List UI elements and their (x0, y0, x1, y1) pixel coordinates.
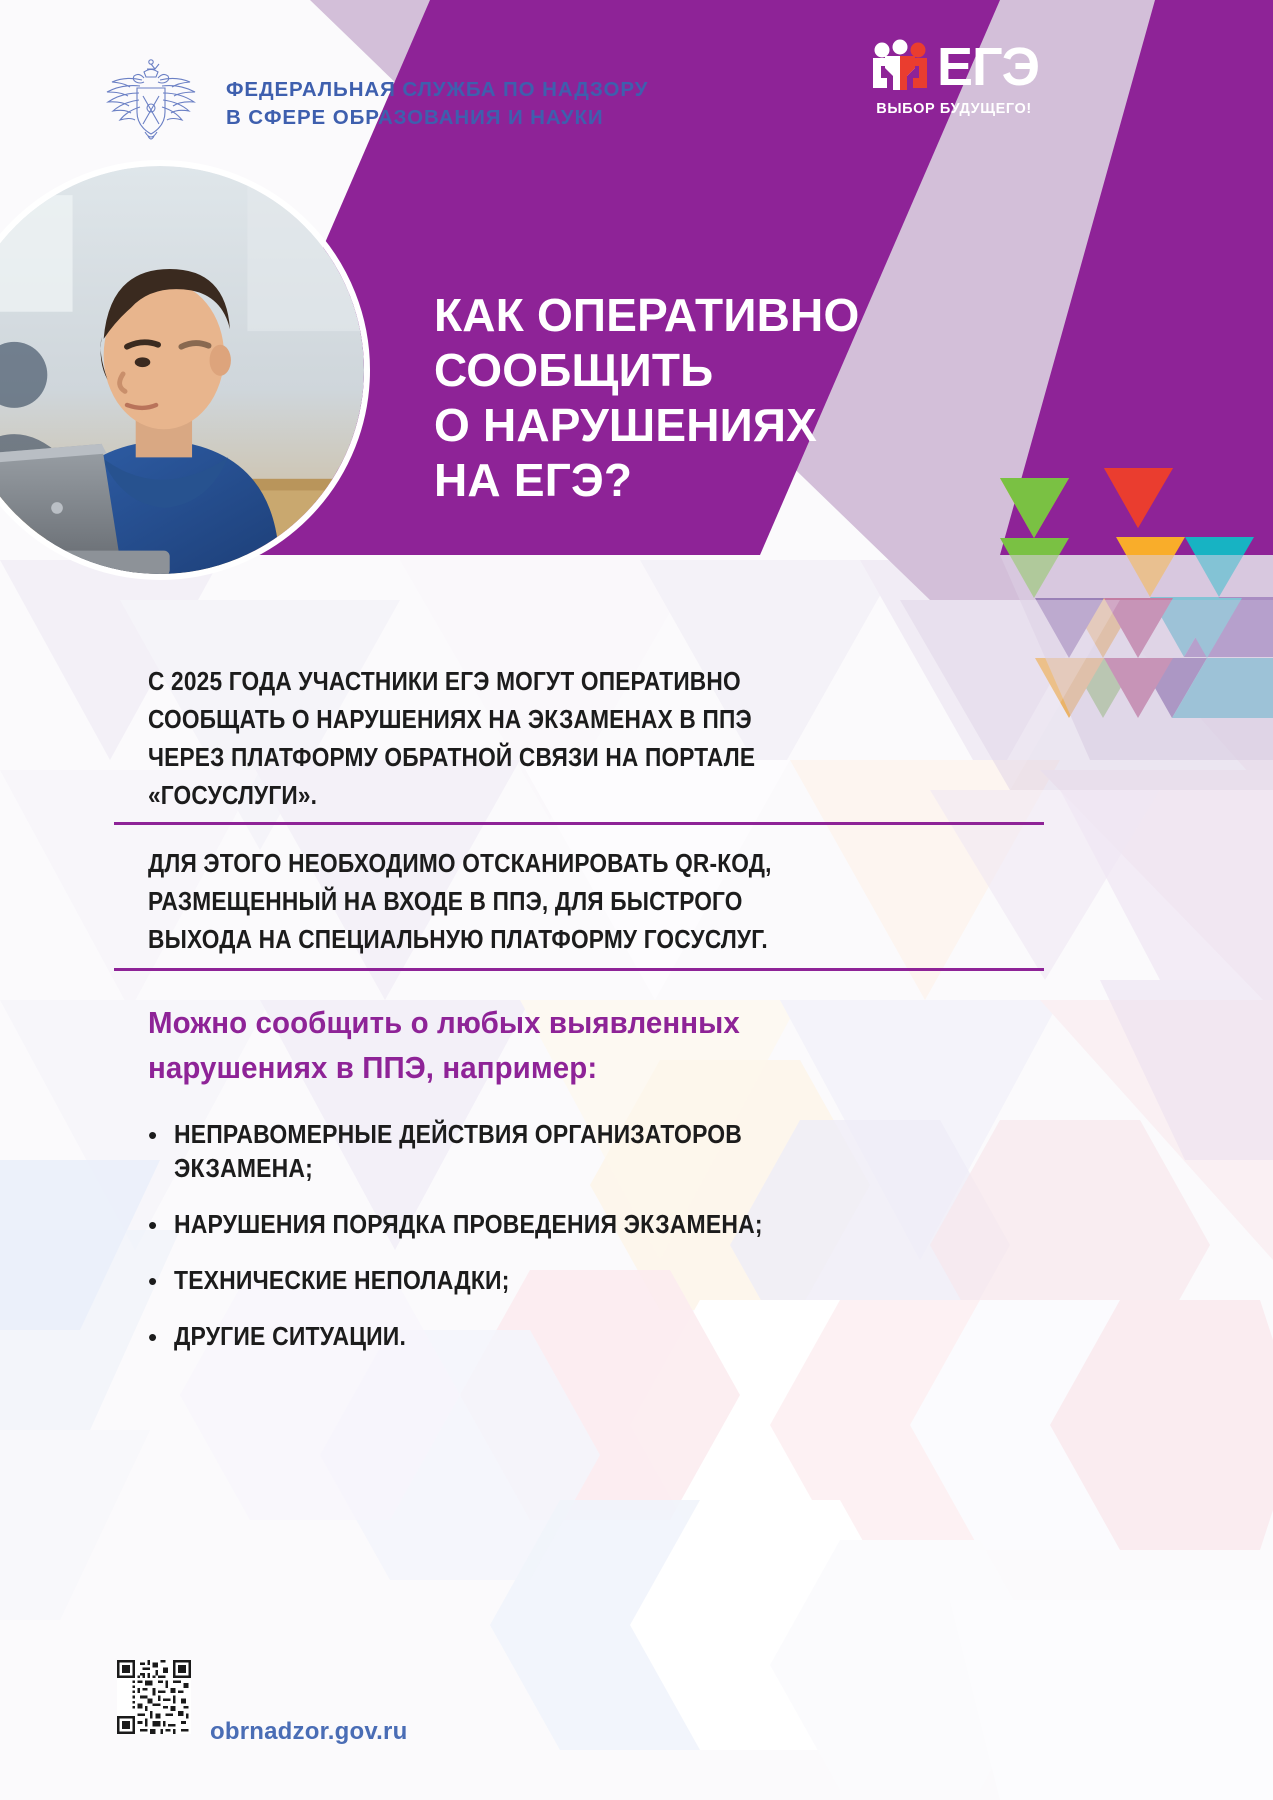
federal-service-line1: ФЕДЕРАЛЬНАЯ СЛУЖБА ПО НАДЗОРУ (226, 76, 648, 104)
qr-code-icon[interactable] (117, 1660, 191, 1734)
list-item-text-line1: НЕПРАВОМЕРНЫЕ ДЕЙСТВИЯ ОРГАНИЗАТОРОВ (174, 1118, 742, 1152)
list-item-text-line1: ДРУГИЕ СИТУАЦИИ. (174, 1320, 406, 1354)
ege-tagline: ВЫБОР БУДУЩЕГО! (869, 101, 1039, 117)
subheading-line1: Можно сообщить о любых выявленных (148, 1000, 740, 1045)
list-item: • НЕПРАВОМЕРНЫЕ ДЕЙСТВИЯ ОРГАНИЗАТОРОВ Э… (148, 1118, 1048, 1186)
page-title-line1: КАК ОПЕРАТИВНО (434, 288, 859, 343)
page-title-line2: СООБЩИТЬ (434, 343, 859, 398)
list-item-text-line1: НАРУШЕНИЯ ПОРЯДКА ПРОВЕДЕНИЯ ЭКЗАМЕНА; (174, 1208, 763, 1242)
website-link[interactable]: obrnadzor.gov.ru (210, 1718, 407, 1746)
paragraph-1-line1: С 2025 ГОДА УЧАСТНИКИ ЕГЭ МОГУТ ОПЕРАТИВ… (148, 663, 755, 701)
divider-2 (114, 968, 1044, 971)
paragraph-1-line3: ЧЕРЕЗ ПЛАТФОРМУ ОБРАТНОЙ СВЯЗИ НА ПОРТАЛ… (148, 739, 755, 777)
paragraph-2: ДЛЯ ЭТОГО НЕОБХОДИМО ОТСКАНИРОВАТЬ QR-КО… (148, 845, 772, 959)
list-item-text: НАРУШЕНИЯ ПОРЯДКА ПРОВЕДЕНИЯ ЭКЗАМЕНА; (174, 1208, 763, 1242)
paragraph-2-line2: РАЗМЕЩЕННЫЙ НА ВХОДЕ В ППЭ, ДЛЯ БЫСТРОГО (148, 883, 772, 921)
list-item-text-line2: ЭКЗАМЕНА; (174, 1152, 742, 1186)
list-item-text: ТЕХНИЧЕСКИЕ НЕПОЛАДКИ; (174, 1264, 510, 1298)
list-item: • ДРУГИЕ СИТУАЦИИ. (148, 1320, 1048, 1354)
violations-list: • НЕПРАВОМЕРНЫЕ ДЕЙСТВИЯ ОРГАНИЗАТОРОВ Э… (148, 1118, 1048, 1376)
student-photo (0, 160, 370, 580)
list-item: • НАРУШЕНИЯ ПОРЯДКА ПРОВЕДЕНИЯ ЭКЗАМЕНА; (148, 1208, 1048, 1242)
subheading: Можно сообщить о любых выявленных наруше… (148, 1000, 740, 1090)
paragraph-1-line2: СООБЩАТЬ О НАРУШЕНИЯХ НА ЭКЗАМЕНАХ В ППЭ (148, 701, 755, 739)
list-item-text: ДРУГИЕ СИТУАЦИИ. (174, 1320, 406, 1354)
poster-footer: obrnadzor.gov.ru (0, 1640, 1273, 1800)
poster-root: ФЕДЕРАЛЬНАЯ СЛУЖБА ПО НАДЗОРУ В СФЕРЕ ОБ… (0, 0, 1273, 1800)
page-title-line3: О НАРУШЕНИЯХ (434, 398, 859, 453)
poster-header: ФЕДЕРАЛЬНАЯ СЛУЖБА ПО НАДЗОРУ В СФЕРЕ ОБ… (0, 0, 1273, 600)
list-item-text-line1: ТЕХНИЧЕСКИЕ НЕПОЛАДКИ; (174, 1264, 510, 1298)
bullet-marker: • (148, 1320, 174, 1354)
subheading-line2: нарушениях в ППЭ, например: (148, 1045, 740, 1090)
bullet-marker: • (148, 1208, 174, 1242)
paragraph-1-line4: «ГОСУСЛУГИ». (148, 777, 755, 815)
ege-logo: ЕГЭ ВЫБОР БУДУЩЕГО! (869, 38, 1039, 117)
paragraph-2-line3: ВЫХОДА НА СПЕЦИАЛЬНУЮ ПЛАТФОРМУ ГОСУСЛУГ… (148, 921, 772, 959)
ege-people-icon (869, 38, 931, 96)
list-item-text: НЕПРАВОМЕРНЫЕ ДЕЙСТВИЯ ОРГАНИЗАТОРОВ ЭКЗ… (174, 1118, 742, 1186)
divider-1 (114, 822, 1044, 825)
federal-service-title: ФЕДЕРАЛЬНАЯ СЛУЖБА ПО НАДЗОРУ В СФЕРЕ ОБ… (226, 76, 648, 132)
page-title-line4: НА ЕГЭ? (434, 453, 859, 508)
bullet-marker: • (148, 1264, 174, 1298)
bullet-marker: • (148, 1118, 174, 1152)
list-item: • ТЕХНИЧЕСКИЕ НЕПОЛАДКИ; (148, 1264, 1048, 1298)
federal-service-line2: В СФЕРЕ ОБРАЗОВАНИЯ И НАУКИ (226, 104, 648, 132)
paragraph-1: С 2025 ГОДА УЧАСТНИКИ ЕГЭ МОГУТ ОПЕРАТИВ… (148, 663, 755, 815)
rosobrnadzor-emblem-icon (92, 58, 210, 144)
page-title: КАК ОПЕРАТИВНО СООБЩИТЬ О НАРУШЕНИЯХ НА … (434, 288, 859, 508)
ege-letters: ЕГЭ (937, 40, 1039, 94)
paragraph-2-line1: ДЛЯ ЭТОГО НЕОБХОДИМО ОТСКАНИРОВАТЬ QR-КО… (148, 845, 772, 883)
